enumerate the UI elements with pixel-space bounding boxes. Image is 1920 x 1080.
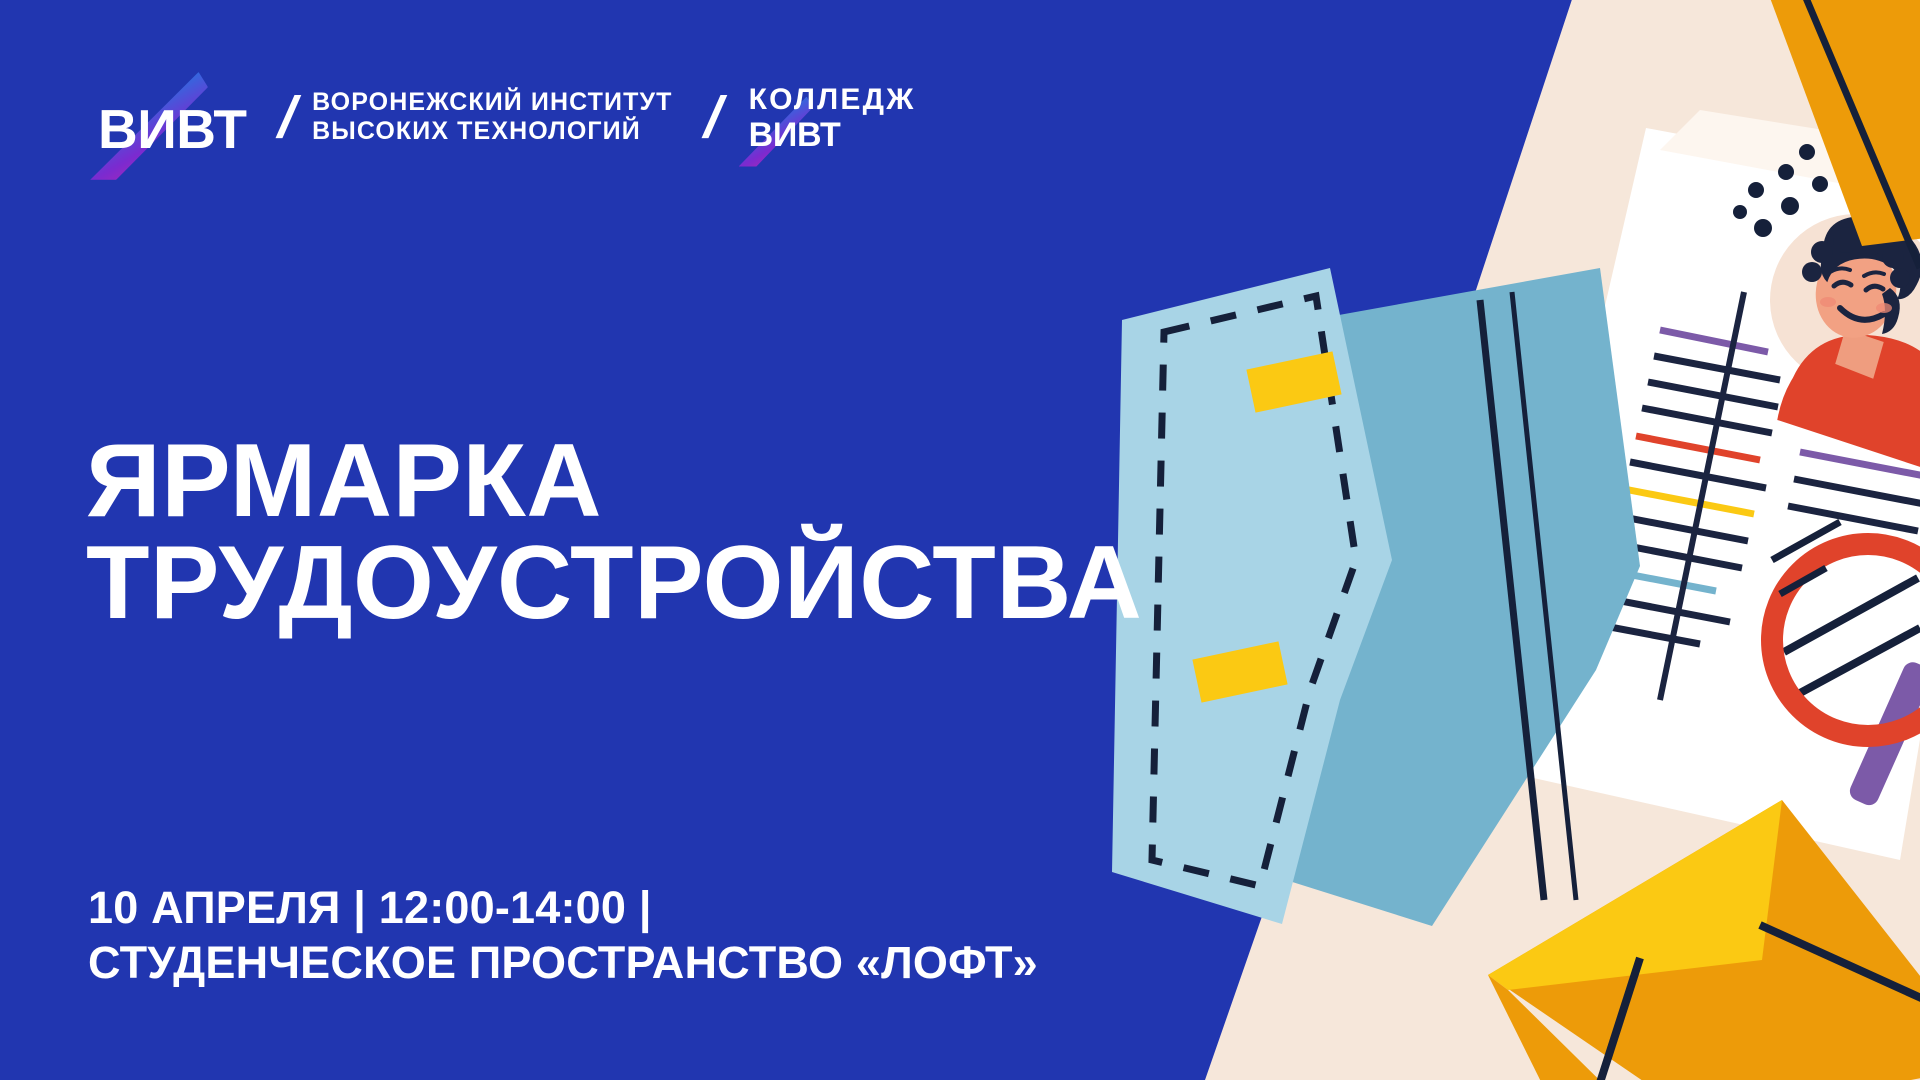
page-title-line2: ТРУДОУСТРОЙСТВА (86, 532, 1142, 634)
avatar-hair-curl-4 (1882, 246, 1904, 268)
college-label: КОЛЛЕДЖ (749, 84, 916, 115)
logo-bar: ВИВТ / ВОРОНЕЖСКИЙ ИНСТИТУТ ВЫСОКИХ ТЕХН… (98, 78, 916, 158)
vivt-logomark[interactable]: ВИВТ (98, 78, 276, 158)
event-date-time: 10 АПРЕЛЯ | 12:00-14:00 | (88, 882, 652, 933)
page-title: ЯРМАРКА ТРУДОУСТРОЙСТВА (86, 430, 1142, 634)
avatar-cheek-right (1876, 303, 1892, 313)
vivt-wordmark: ВИВТ (98, 100, 246, 158)
avatar-cheek-left (1820, 297, 1836, 307)
promo-banner: ВИВТ / ВОРОНЕЖСКИЙ ИНСТИТУТ ВЫСОКИХ ТЕХН… (0, 0, 1920, 1080)
event-details: 10 АПРЕЛЯ | 12:00-14:00 | СТУДЕНЧЕСКОЕ П… (88, 880, 1038, 990)
avatar-hair-curl-2 (1833, 227, 1859, 253)
page-title-line1: ЯРМАРКА (86, 423, 602, 539)
avatar-hair-curl-6 (1802, 262, 1822, 282)
college-logo-block[interactable]: КОЛЛЕДЖ ВИВТ (749, 84, 916, 153)
institute-name-line2: ВЫСОКИХ ТЕХНОЛОГИЙ (312, 118, 672, 147)
institute-name-block: ВОРОНЕЖСКИЙ ИНСТИТУТ ВЫСОКИХ ТЕХНОЛОГИЙ (312, 89, 672, 147)
logo-slash-icon: / (273, 89, 304, 147)
event-venue: СТУДЕНЧЕСКОЕ ПРОСТРАНСТВО «ЛОФТ» (88, 935, 1038, 990)
institute-name-line1: ВОРОНЕЖСКИЙ ИНСТИТУТ (312, 89, 672, 118)
college-vivt-wordmark: ВИВТ (749, 118, 916, 153)
avatar-hair-curl-1 (1811, 241, 1833, 263)
avatar-hair-curl-5 (1890, 268, 1910, 288)
logo-divider-slash-icon: / (699, 89, 730, 147)
